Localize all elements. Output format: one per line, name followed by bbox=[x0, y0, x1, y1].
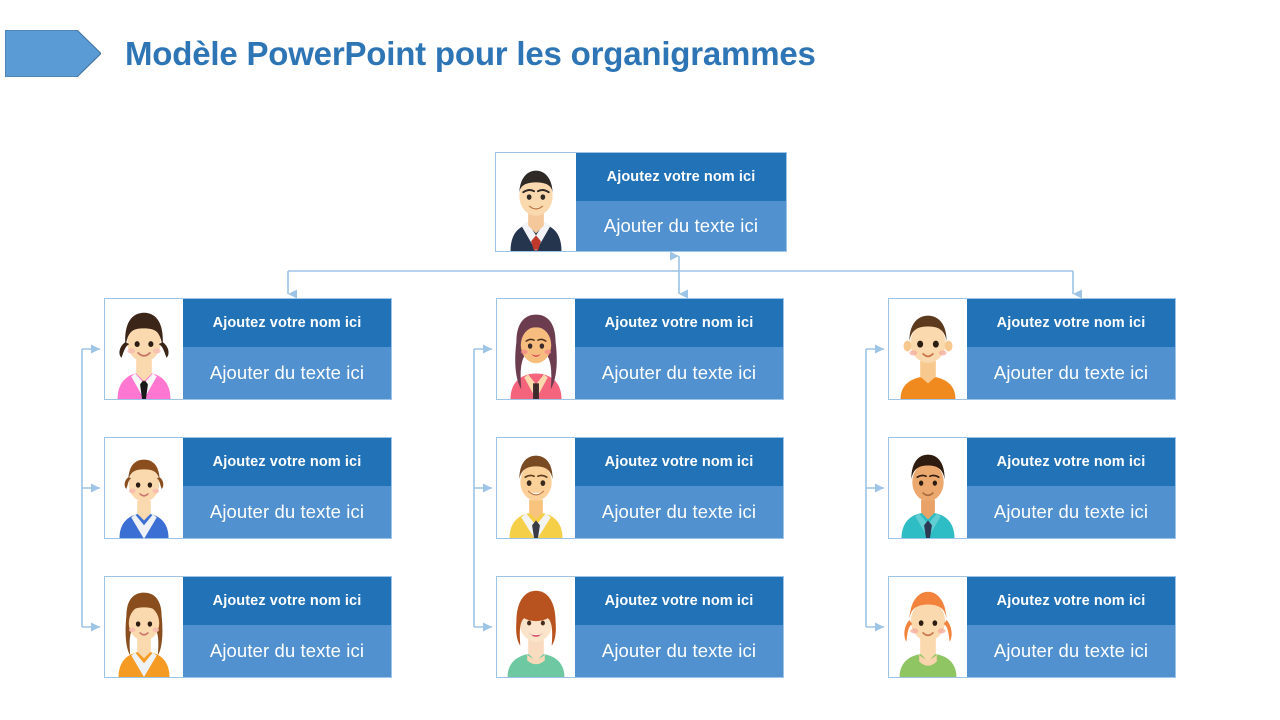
node-desc-label: Ajouter du texte ici bbox=[967, 486, 1175, 538]
org-node-middle-3[interactable]: Ajoutez votre nom ici Ajouter du texte i… bbox=[496, 576, 784, 678]
org-node-left-2[interactable]: Ajoutez votre nom ici Ajouter du texte i… bbox=[104, 437, 392, 539]
node-name-label: Ajoutez votre nom ici bbox=[183, 299, 391, 347]
title-banner-arrow-icon bbox=[5, 30, 101, 77]
avatar-girl-green-ginger bbox=[889, 577, 967, 677]
node-desc-label: Ajouter du texte ici bbox=[967, 347, 1175, 399]
node-desc-label: Ajouter du texte ici bbox=[575, 625, 783, 677]
avatar-man-suit-darkhair bbox=[496, 153, 576, 251]
org-node-right-3[interactable]: Ajoutez votre nom ici Ajouter du texte i… bbox=[888, 576, 1176, 678]
card-text: Ajoutez votre nom ici Ajouter du texte i… bbox=[967, 577, 1175, 677]
avatar-woman-orange-longhair bbox=[105, 577, 183, 677]
card-text: Ajoutez votre nom ici Ajouter du texte i… bbox=[967, 299, 1175, 399]
card-text: Ajoutez votre nom ici Ajouter du texte i… bbox=[575, 438, 783, 538]
node-desc-label: Ajouter du texte ici bbox=[183, 625, 391, 677]
node-name-label: Ajoutez votre nom ici bbox=[575, 577, 783, 625]
avatar-woman-pink-shortdark bbox=[105, 299, 183, 399]
node-name-label: Ajoutez votre nom ici bbox=[575, 299, 783, 347]
org-node-right-1[interactable]: Ajoutez votre nom ici Ajouter du texte i… bbox=[888, 298, 1176, 400]
node-name-label: Ajoutez votre nom ici bbox=[183, 577, 391, 625]
avatar-boy-orange-shirt bbox=[889, 299, 967, 399]
card-text: Ajoutez votre nom ici Ajouter du texte i… bbox=[575, 299, 783, 399]
org-node-left-1[interactable]: Ajoutez votre nom ici Ajouter du texte i… bbox=[104, 298, 392, 400]
node-name-label: Ajoutez votre nom ici bbox=[575, 438, 783, 486]
card-text: Ajoutez votre nom ici Ajouter du texte i… bbox=[183, 438, 391, 538]
node-desc-label: Ajouter du texte ici bbox=[575, 347, 783, 399]
org-node-root[interactable]: Ajoutez votre nom ici Ajouter du texte i… bbox=[495, 152, 787, 252]
card-text: Ajoutez votre nom ici Ajouter du texte i… bbox=[183, 577, 391, 677]
org-node-left-3[interactable]: Ajoutez votre nom ici Ajouter du texte i… bbox=[104, 576, 392, 678]
node-name-label: Ajoutez votre nom ici bbox=[967, 438, 1175, 486]
node-name-label: Ajoutez votre nom ici bbox=[967, 577, 1175, 625]
card-text: Ajoutez votre nom ici Ajouter du texte i… bbox=[967, 438, 1175, 538]
node-name-label: Ajoutez votre nom ici bbox=[183, 438, 391, 486]
node-desc-label: Ajouter du texte ici bbox=[576, 201, 786, 251]
org-node-right-2[interactable]: Ajoutez votre nom ici Ajouter du texte i… bbox=[888, 437, 1176, 539]
page-title: Modèle PowerPoint pour les organigrammes bbox=[125, 30, 816, 77]
card-text: Ajoutez votre nom ici Ajouter du texte i… bbox=[183, 299, 391, 399]
node-desc-label: Ajouter du texte ici bbox=[575, 486, 783, 538]
node-desc-label: Ajouter du texte ici bbox=[967, 625, 1175, 677]
avatar-woman-green-auburn bbox=[497, 577, 575, 677]
avatar-man-teal-shirt bbox=[889, 438, 967, 538]
slide-canvas: Modèle PowerPoint pour les organigrammes bbox=[0, 0, 1280, 720]
node-name-label: Ajoutez votre nom ici bbox=[967, 299, 1175, 347]
node-desc-label: Ajouter du texte ici bbox=[183, 486, 391, 538]
node-desc-label: Ajouter du texte ici bbox=[183, 347, 391, 399]
org-node-middle-2[interactable]: Ajoutez votre nom ici Ajouter du texte i… bbox=[496, 437, 784, 539]
avatar-woman-pink-longhair bbox=[497, 299, 575, 399]
avatar-man-yellow-tie bbox=[497, 438, 575, 538]
card-text: Ajoutez votre nom ici Ajouter du texte i… bbox=[575, 577, 783, 677]
avatar-woman-blue-blazer bbox=[105, 438, 183, 538]
org-node-middle-1[interactable]: Ajoutez votre nom ici Ajouter du texte i… bbox=[496, 298, 784, 400]
card-text: Ajoutez votre nom ici Ajouter du texte i… bbox=[576, 153, 786, 251]
node-name-label: Ajoutez votre nom ici bbox=[576, 153, 786, 201]
